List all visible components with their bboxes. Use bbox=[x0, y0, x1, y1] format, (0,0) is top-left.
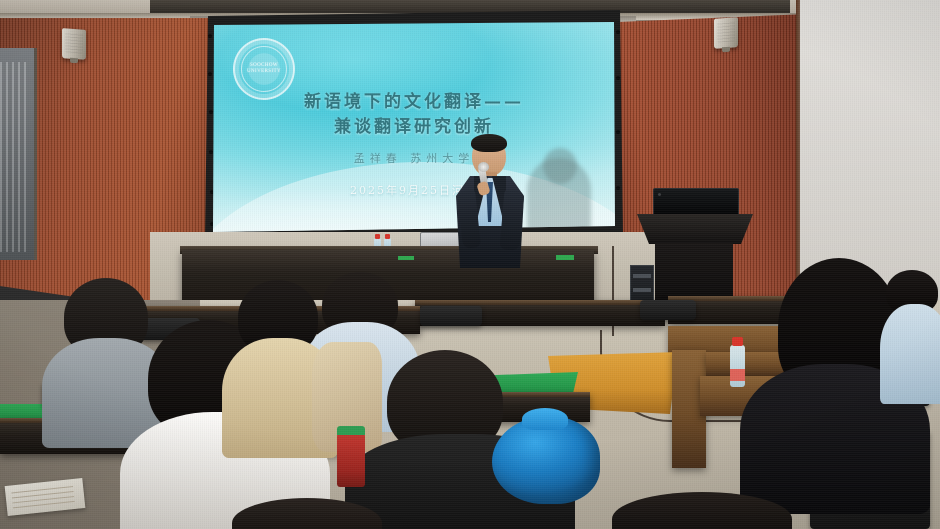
rack-slot bbox=[633, 288, 651, 292]
lecture-hall-photo: SOOCHOW UNIVERSITY 新语境下的文化翻译—— 兼谈翻译研究创新 … bbox=[0, 0, 940, 529]
bag-knot bbox=[522, 408, 568, 430]
slide-title-line-1: 新语境下的文化翻译—— bbox=[213, 90, 615, 115]
bottle-cap bbox=[385, 234, 390, 239]
screen-hook bbox=[208, 34, 212, 38]
speaker-bracket bbox=[722, 47, 730, 53]
thermos-lid bbox=[337, 426, 365, 435]
audience-member bbox=[880, 270, 940, 380]
desk-green-tag bbox=[556, 255, 574, 260]
presenter-hair bbox=[471, 134, 507, 152]
lectern-monitor bbox=[653, 188, 739, 216]
screen-hook bbox=[209, 150, 213, 154]
screen-hook bbox=[616, 30, 620, 34]
audience-chair bbox=[420, 306, 482, 326]
screen-hook bbox=[616, 76, 620, 80]
bottle-cap bbox=[732, 337, 743, 346]
wall-speaker-right-icon bbox=[714, 17, 738, 49]
presenter-shadow bbox=[527, 158, 591, 232]
slide-surface: SOOCHOW UNIVERSITY 新语境下的文化翻译—— 兼谈翻译研究创新 … bbox=[213, 22, 615, 232]
left-curtain bbox=[0, 62, 30, 252]
speaker-bracket bbox=[70, 58, 78, 64]
screen-hook bbox=[616, 130, 620, 134]
screen-hook bbox=[208, 72, 212, 76]
microphone-head bbox=[478, 162, 489, 172]
screen-hook bbox=[209, 110, 213, 114]
audience-torso bbox=[880, 304, 940, 404]
rack-slot bbox=[633, 274, 651, 278]
red-thermos bbox=[337, 433, 365, 487]
screen-hook bbox=[616, 186, 620, 190]
seal-text: SOOCHOW UNIVERSITY bbox=[242, 63, 286, 75]
audience-hair bbox=[612, 492, 792, 529]
bottle-cap bbox=[375, 234, 380, 239]
audience-member bbox=[612, 492, 792, 529]
presenter bbox=[452, 136, 528, 266]
projection-screen: SOOCHOW UNIVERSITY 新语境下的文化翻译—— 兼谈翻译研究创新 … bbox=[205, 10, 623, 242]
wall-speaker-left-icon bbox=[62, 28, 86, 60]
desk-edge bbox=[415, 300, 665, 305]
lectern-top bbox=[637, 214, 753, 244]
slide-title-line-2: 兼谈翻译研究创新 bbox=[213, 115, 615, 140]
audience-chair bbox=[640, 300, 696, 320]
slide-title: 新语境下的文化翻译—— 兼谈翻译研究创新 bbox=[213, 90, 615, 140]
speaker-grill bbox=[65, 31, 83, 53]
monitor-led-icon bbox=[658, 193, 661, 196]
audience-hair bbox=[232, 498, 382, 529]
bottle-label bbox=[730, 369, 745, 381]
speaker-grill bbox=[717, 20, 735, 42]
blue-bag bbox=[492, 416, 600, 504]
audience-member bbox=[232, 498, 382, 529]
desk-green-tag bbox=[398, 256, 414, 260]
audience-water-bottle bbox=[730, 345, 745, 387]
